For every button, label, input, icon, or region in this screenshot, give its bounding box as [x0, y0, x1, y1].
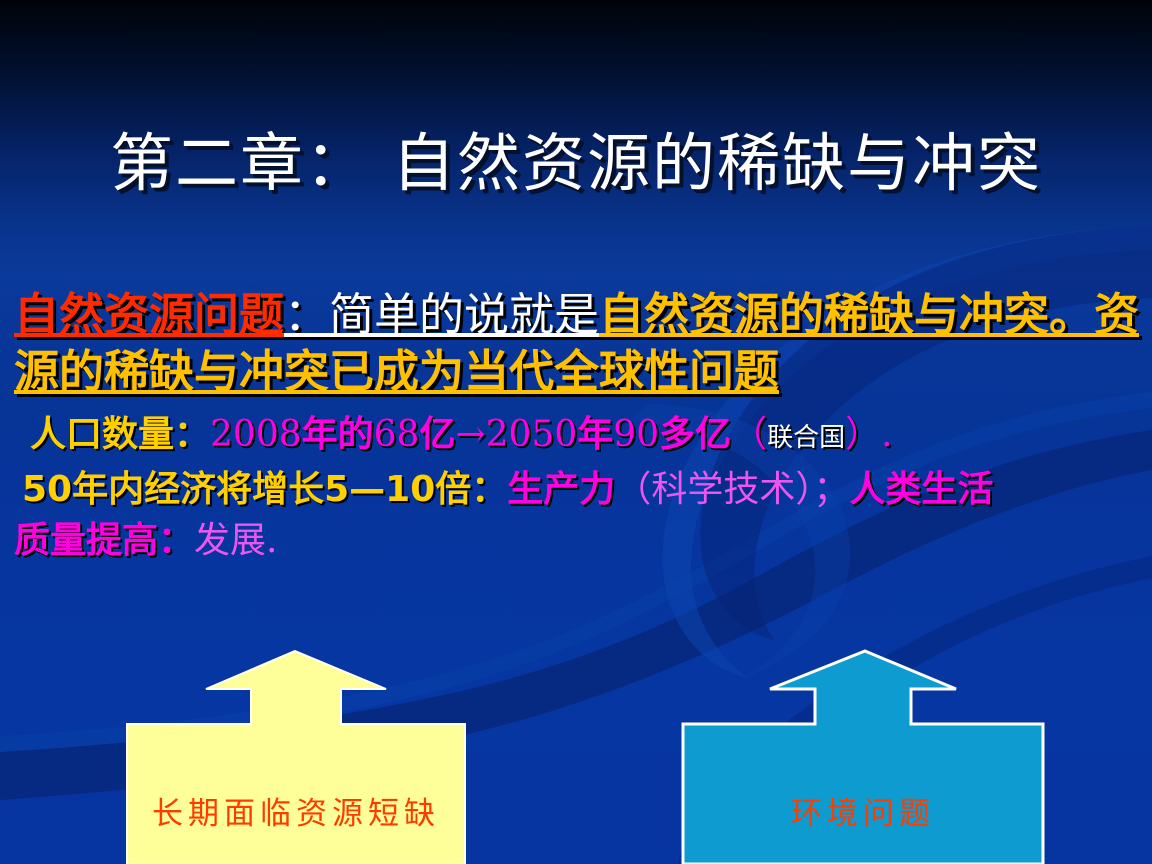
population-period: .	[881, 414, 892, 455]
slide-title: 第二章： 自然资源的稀缺与冲突	[0, 131, 1152, 197]
quality-value: 发展.	[194, 520, 277, 561]
economy-label-c: 5—10	[324, 469, 435, 510]
slide-body: 自然资源问题：简单的说就是自然资源的稀缺与冲突。资源的稀缺与冲突已成为当代全球性…	[14, 286, 1146, 564]
population-year-a: 2008	[210, 414, 302, 455]
population-arrow-icon: →	[455, 414, 485, 455]
definition-connector: ：简单的说就是	[284, 288, 599, 341]
economy-label-d: 倍：	[435, 469, 507, 510]
population-year-b: 2050	[486, 414, 578, 455]
quality-line: 质量提高：发展.	[14, 517, 1146, 564]
economy-line: 50年内经济将增长5—10倍：生产力（科学技术）；人类生活	[14, 466, 1146, 513]
population-paren-open: （	[731, 414, 767, 455]
definition-paragraph: 自然资源问题：简单的说就是自然资源的稀缺与冲突。资源的稀缺与冲突已成为当代全球性…	[14, 286, 1146, 400]
economy-label-b: 年内经济将增长	[72, 469, 324, 510]
population-label: 人口数量：	[30, 414, 210, 455]
economy-value-a: 生产力	[507, 469, 615, 510]
definition-term: 自然资源问题	[14, 288, 284, 341]
arrow-label-right: 环境问题	[676, 788, 1050, 833]
population-line: 人口数量：2008年的68亿→2050年90多亿（联合国）.	[14, 411, 1146, 462]
arrow-label-left: 长期面临资源短缺	[118, 788, 474, 833]
arrow-callout-environment-problem[interactable]: 环境问题	[676, 645, 1050, 864]
population-num-a: 68	[374, 414, 420, 455]
population-paren-close: ）	[845, 414, 881, 455]
economy-value-b: （科学技术）；	[615, 469, 849, 510]
economy-label-a: 50	[22, 469, 72, 510]
population-unit-a: 亿	[419, 414, 455, 455]
slide-canvas: 第二章： 自然资源的稀缺与冲突 自然资源问题：简单的说就是自然资源的稀缺与冲突。…	[0, 0, 1152, 864]
population-text-b: 年	[577, 414, 613, 455]
population-num-b: 90	[613, 414, 659, 455]
economy-value-c: 人类生活	[849, 469, 993, 510]
quality-label: 质量提高：	[14, 520, 194, 561]
population-unit-b: 多亿	[659, 414, 731, 455]
population-text-a: 年的	[302, 414, 374, 455]
arrow-callout-resource-shortage[interactable]: 长期面临资源短缺	[118, 645, 474, 864]
population-source: 联合国	[767, 423, 845, 453]
